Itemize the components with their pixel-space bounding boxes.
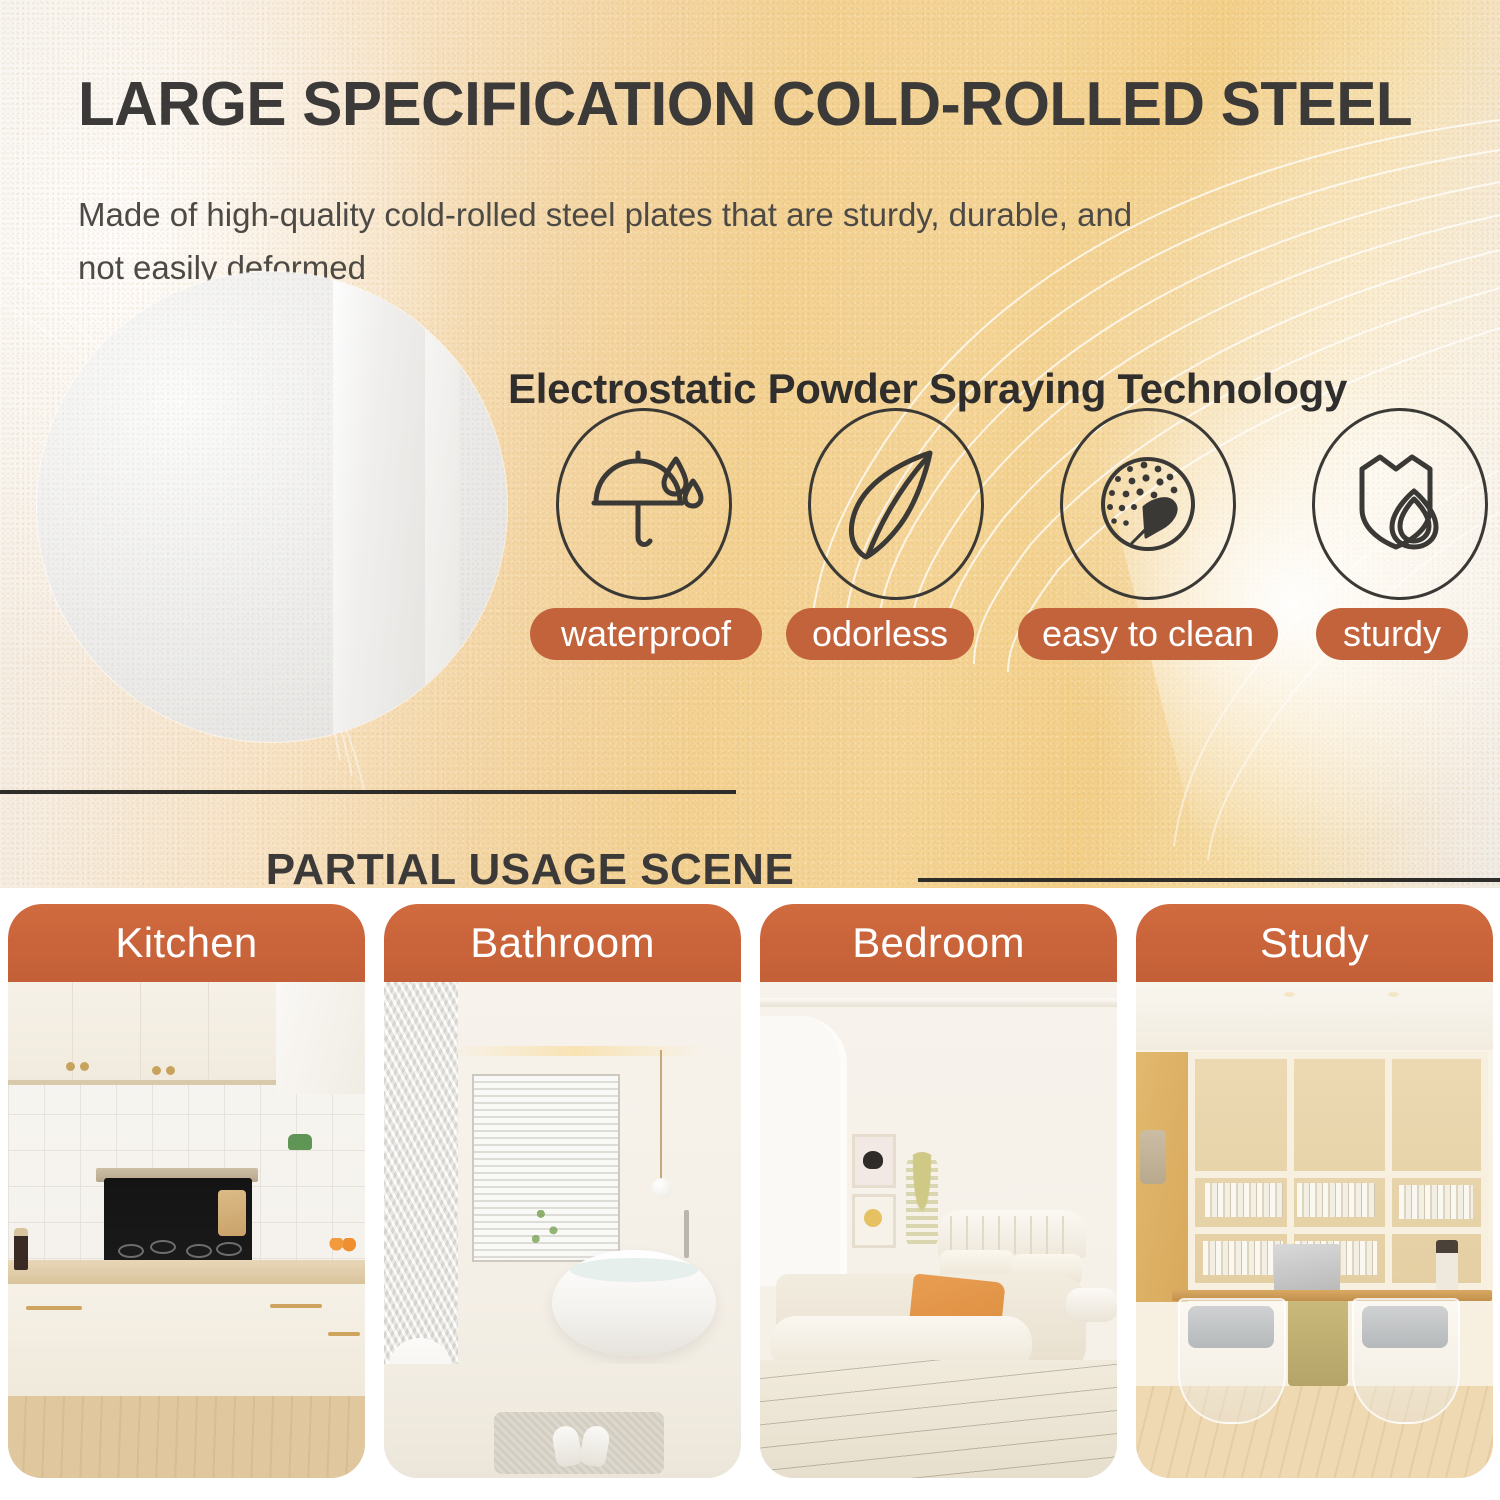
scene-card-header: Kitchen (8, 904, 365, 982)
product-infographic-page: LARGE SPECIFICATION COLD-ROLLED STEEL Ma… (0, 0, 1500, 1500)
scene-card-header: Bathroom (384, 904, 741, 982)
study-chair-cushion (1362, 1306, 1448, 1348)
umbrella-raindrop-icon (584, 445, 704, 563)
scene-card-kitchen[interactable]: Kitchen (8, 904, 365, 1478)
scene-label-bathroom: Bathroom (470, 922, 655, 964)
bedroom-wall-art-bottom (852, 1194, 896, 1248)
kitchen-countertop (8, 1260, 365, 1284)
scene-card-header: Study (1136, 904, 1493, 982)
study-scene (1136, 982, 1493, 1478)
kitchen-wine-bottle (14, 1228, 28, 1270)
scene-label-bedroom: Bedroom (852, 922, 1025, 964)
feature-icon-sturdy (1312, 408, 1488, 600)
hero-section: LARGE SPECIFICATION COLD-ROLLED STEEL Ma… (0, 0, 1500, 888)
study-acrylic-chair-left (1178, 1298, 1286, 1424)
feature-icon-row (508, 408, 1498, 603)
scene-image-kitchen (8, 982, 365, 1478)
bedroom-nightstand (1066, 1288, 1117, 1322)
bathroom-cove-light (446, 1046, 706, 1056)
study-downlight-right (1388, 992, 1399, 997)
kitchen-shelf-plant (288, 1134, 312, 1150)
bathroom-faucet (684, 1210, 689, 1258)
page-title: LARGE SPECIFICATION COLD-ROLLED STEEL (78, 72, 1417, 137)
kitchen-fruit-bowl (328, 1238, 362, 1252)
bathroom-branch-vase (524, 1194, 566, 1260)
bedroom-area-rug (760, 1360, 1117, 1478)
shield-flame-icon (1340, 445, 1460, 563)
kitchen-corner-wall (276, 982, 365, 1094)
scene-card-study[interactable]: Study (1136, 904, 1493, 1478)
section-heading: PARTIAL USAGE SCENE (0, 845, 1060, 895)
kitchen-upper-cabinets (8, 982, 276, 1085)
bathroom-pendant-cord (660, 1050, 662, 1180)
bedroom-scene (760, 982, 1117, 1478)
kitchen-lower-cabinets (8, 1284, 365, 1414)
study-table-lamp (1436, 1240, 1458, 1292)
bedroom-wall-art-top (852, 1134, 896, 1188)
scene-image-study (1136, 982, 1493, 1478)
badge-odorless: odorless (786, 608, 974, 660)
study-sculpture (1140, 1130, 1166, 1184)
scene-card-bedroom[interactable]: Bedroom (760, 904, 1117, 1478)
leaf-icon (836, 445, 956, 563)
photo-white-panel (333, 272, 425, 742)
badge-easy-to-clean: easy to clean (1018, 608, 1278, 660)
scene-image-bedroom (760, 982, 1117, 1478)
bedroom-crown-molding (760, 998, 1117, 1007)
study-downlight-left (1284, 992, 1295, 997)
bathroom-pendant-globe (652, 1178, 672, 1198)
scene-label-study: Study (1260, 922, 1369, 964)
scene-card-bathroom[interactable]: Bathroom (384, 904, 741, 1478)
scene-label-kitchen: Kitchen (115, 922, 257, 964)
kitchen-cutting-board (218, 1190, 246, 1236)
divider-left (0, 790, 736, 794)
scene-image-bathroom (384, 982, 741, 1478)
study-acrylic-chair-right (1352, 1298, 1460, 1424)
kitchen-wood-floor (8, 1396, 365, 1478)
feature-icon-waterproof (556, 408, 732, 600)
bedroom-hanging-plant (906, 1152, 938, 1248)
bedroom-arch-frame (760, 1016, 847, 1286)
feature-icon-odorless (808, 408, 984, 600)
feature-icon-easy-to-clean (1060, 408, 1236, 600)
product-photo-circle (37, 272, 507, 742)
kitchen-scene (8, 982, 365, 1478)
badge-sturdy: sturdy (1316, 608, 1468, 660)
study-laptop (1274, 1244, 1340, 1292)
spray-nozzle-icon (1088, 445, 1208, 563)
tech-heading: Electrostatic Powder Spraying Technology (508, 365, 1498, 413)
study-chair-cushion (1188, 1306, 1274, 1348)
photo-white-panel-edge (425, 272, 459, 742)
badge-waterproof: waterproof (530, 608, 762, 660)
feature-badge-row: waterproof odorless easy to clean sturdy (508, 608, 1498, 672)
scene-card-header: Bedroom (760, 904, 1117, 982)
study-desk-chair (1288, 1294, 1348, 1386)
bathroom-scene (384, 982, 741, 1478)
usage-scene-cards: Kitchen (0, 904, 1500, 1484)
bathroom-tub-water (570, 1258, 698, 1282)
study-ceiling (1136, 982, 1493, 1050)
